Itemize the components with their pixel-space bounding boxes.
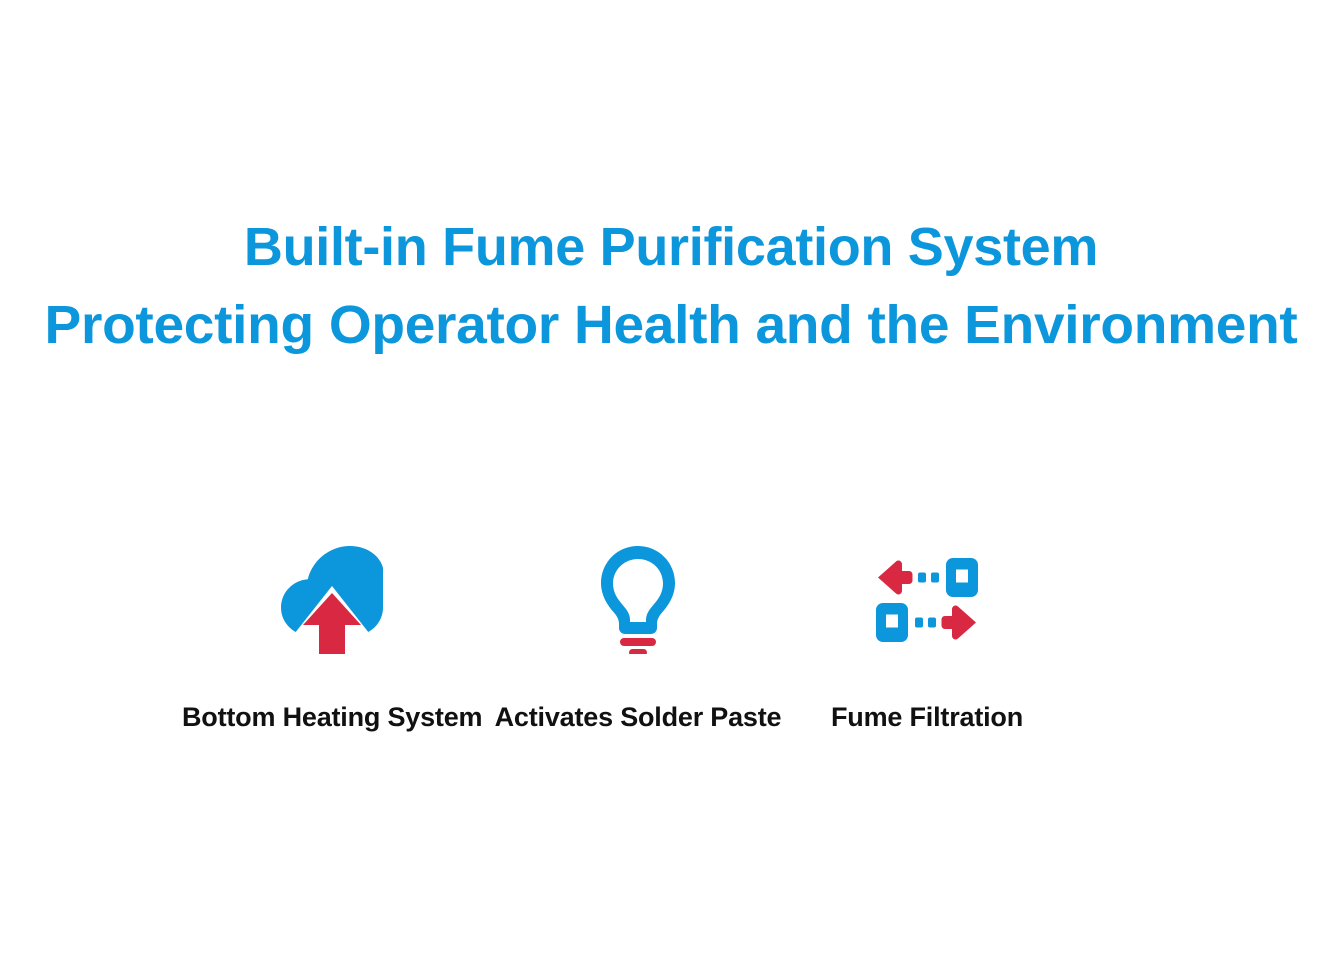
feature-item-bottom-heating: Bottom Heating System (182, 540, 482, 770)
slide-root: Built-in Fume Purification System Protec… (0, 0, 1342, 959)
cloud-up-arrow-icon (182, 540, 482, 660)
feature-label-activates-solder-paste: Activates Solder Paste (488, 702, 788, 733)
data-transfer-arrows-icon (777, 540, 1077, 660)
page-title-line-2: Protecting Operator Health and the Envir… (0, 286, 1342, 364)
feature-label-bottom-heating: Bottom Heating System (182, 702, 482, 733)
feature-item-fume-filtration: Fume Filtration (777, 540, 1077, 770)
feature-item-activates-solder-paste: Activates Solder Paste (488, 540, 788, 770)
feature-label-fume-filtration: Fume Filtration (777, 702, 1077, 733)
lightbulb-icon (488, 540, 788, 660)
feature-row: Bottom Heating System Activates Solder P… (150, 540, 1150, 770)
page-title: Built-in Fume Purification System Protec… (0, 208, 1342, 364)
page-title-line-1: Built-in Fume Purification System (0, 208, 1342, 286)
